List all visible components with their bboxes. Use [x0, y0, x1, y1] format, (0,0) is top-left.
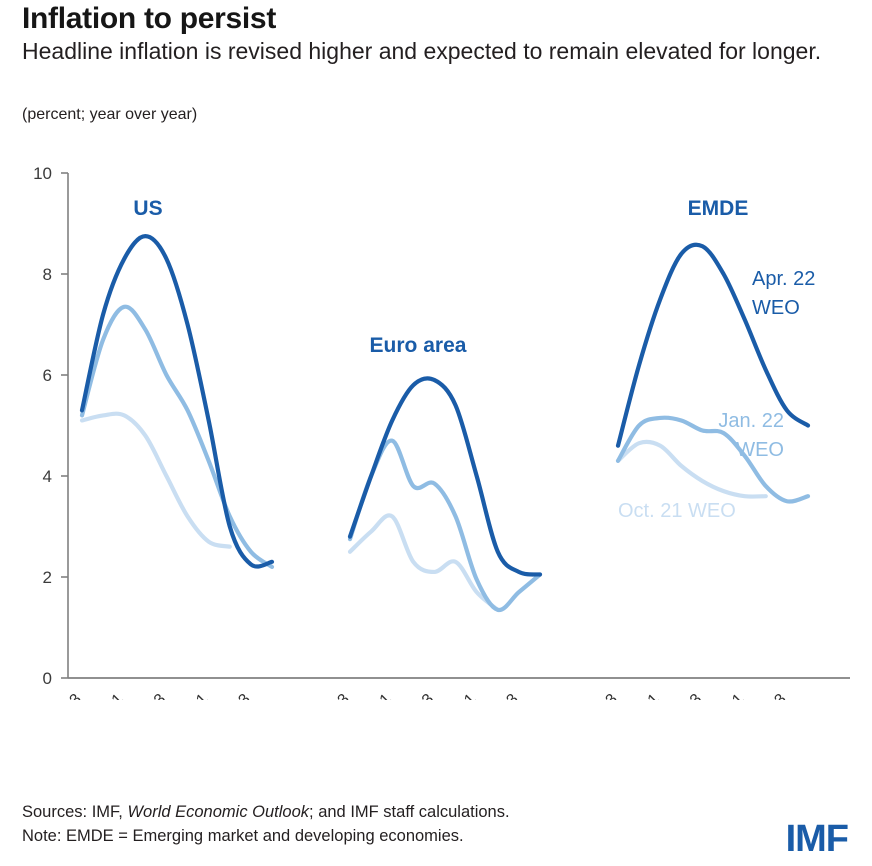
imf-logo: IMF: [786, 818, 848, 861]
x-axis-tick-label: 22-Q1: [352, 691, 396, 700]
series-annotation-line2: WEO: [752, 297, 800, 319]
series-line-oct-21-weo: [350, 515, 498, 609]
line-chart-svg: 0246810US21-Q322-Q122-Q323-Q123-Q3Euro a…: [0, 140, 872, 700]
series-line-jan-22-weo: [82, 307, 272, 567]
chart-page: Inflation to persist Headline inflation …: [0, 0, 872, 866]
y-axis-tick-label: 4: [43, 467, 52, 486]
x-axis-tick-label: 23-Q3: [478, 691, 522, 700]
y-axis-tick-label: 6: [43, 366, 52, 385]
panel-title-emde: EMDE: [688, 197, 749, 220]
page-subtitle: Headline inflation is revised higher and…: [22, 38, 822, 65]
y-axis-tick-label: 0: [43, 669, 52, 688]
x-axis-tick-label: 23-Q3: [210, 691, 254, 700]
series-annotation-line2: WEO: [736, 439, 784, 461]
series-line-apr-22-weo: [350, 378, 540, 574]
units-label: (percent; year over year): [22, 106, 197, 124]
x-axis-tick-label: 21-Q3: [41, 691, 85, 700]
sources-publication: World Economic Outlook: [127, 803, 309, 821]
panel-title-euro-area: Euro area: [370, 334, 467, 357]
sources-prefix: Sources: IMF,: [22, 803, 127, 821]
x-axis-tick-label: 22-Q3: [126, 691, 170, 700]
series-annotation-apr-22: Apr. 22: [752, 268, 815, 290]
chart-panel-euro-area: Euro area21-Q322-Q122-Q323-Q123-Q3: [309, 334, 540, 700]
chart-plot-area: 0246810US21-Q322-Q122-Q323-Q123-Q3Euro a…: [0, 140, 872, 700]
x-axis-tick-label: 21-Q3: [309, 691, 353, 700]
chart-panel-us: US21-Q322-Q122-Q323-Q123-Q3: [41, 197, 272, 700]
x-axis-tick-label: 23-Q1: [704, 691, 748, 700]
x-axis-tick-label: 22-Q1: [84, 691, 128, 700]
note-line: Note: EMDE = Emerging market and develop…: [22, 824, 510, 848]
x-axis-tick-label: 23-Q1: [436, 691, 480, 700]
x-axis-tick-label: 23-Q3: [746, 691, 790, 700]
sources-line: Sources: IMF, World Economic Outlook; an…: [22, 800, 510, 824]
y-axis-tick-label: 10: [33, 164, 52, 183]
x-axis-tick-label: 22-Q1: [620, 691, 664, 700]
x-axis-tick-label: 21-Q3: [577, 691, 621, 700]
panel-title-us: US: [133, 197, 162, 220]
page-title: Inflation to persist: [22, 2, 276, 36]
series-line-apr-22-weo: [82, 236, 272, 566]
series-annotation-jan-22: Jan. 22: [718, 410, 784, 432]
sources-suffix: ; and IMF staff calculations.: [309, 803, 510, 821]
x-axis-tick-label: 22-Q3: [662, 691, 706, 700]
y-axis-tick-label: 2: [43, 568, 52, 587]
series-annotation-oct-21-weo: Oct. 21 WEO: [618, 500, 736, 522]
x-axis-tick-label: 22-Q3: [394, 691, 438, 700]
y-axis-tick-label: 8: [43, 265, 52, 284]
x-axis-tick-label: 23-Q1: [168, 691, 212, 700]
series-line-oct-21-weo: [82, 414, 230, 547]
chart-footnotes: Sources: IMF, World Economic Outlook; an…: [22, 800, 510, 848]
